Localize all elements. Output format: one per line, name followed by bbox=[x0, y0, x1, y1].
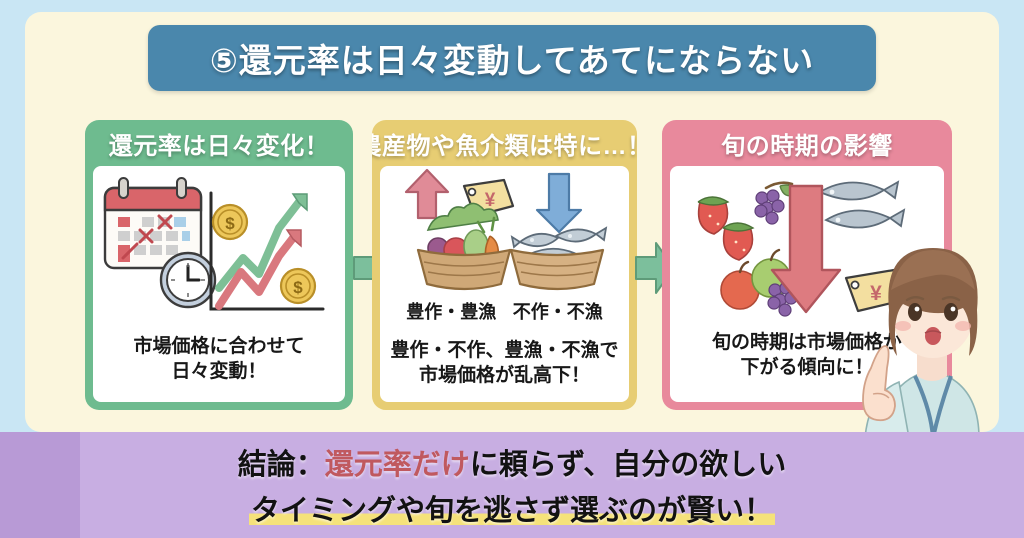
panel-2-text-line-1: 豊作・不作、豊漁・不漁で bbox=[380, 339, 629, 363]
panel-2-text-line-2: 市場価格が乱高下！ bbox=[380, 364, 629, 388]
down-arrow-blue-icon bbox=[537, 174, 581, 232]
panel-1-illustration: $ $ bbox=[93, 166, 345, 341]
infographic-stage: ⑤還元率は日々変動してあてにならない 還元率は日々変化！ bbox=[0, 0, 1024, 538]
panel-2-text: 豊作・不作、豊漁・不漁で 市場価格が乱高下！ bbox=[380, 339, 629, 388]
conclusion-suffix: に頼らず、自分の欲しい bbox=[470, 449, 786, 481]
conclusion-band-right bbox=[944, 432, 1024, 538]
calendar-chart-illustration: $ $ bbox=[93, 166, 345, 336]
panel-2-body: ¥ bbox=[380, 166, 629, 402]
up-arrow-pink-icon bbox=[406, 170, 448, 218]
panel-2-label-left: 豊作・豊漁 bbox=[406, 301, 496, 324]
panel-revenue-rate-daily-change: 還元率は日々変化！ bbox=[85, 120, 353, 410]
panel-1-heading: 還元率は日々変化！ bbox=[109, 126, 330, 161]
panel-2-illustration: ¥ bbox=[380, 166, 629, 311]
page-title: ⑤還元率は日々変動してあてにならない bbox=[210, 34, 814, 82]
conclusion-band-left bbox=[0, 432, 80, 538]
svg-text:$: $ bbox=[293, 278, 303, 297]
clock-icon bbox=[161, 253, 215, 307]
conclusion-banner: 結論：還元率だけに頼らず、自分の欲しい タイミングや旬を逃さず選ぶのが賢い！ bbox=[80, 432, 944, 538]
panel-2-label-right: 不作・不漁 bbox=[513, 301, 603, 324]
panel-produce-seafood: 農産物や魚介類は特に…！ ¥ bbox=[372, 120, 637, 410]
panel-2-heading: 農産物や魚介類は特に…！ bbox=[372, 126, 637, 161]
panel-1-text: 市場価格に合わせて 日々変動！ bbox=[93, 335, 345, 384]
panel-1-body: $ $ 市場価格に合わせて 日々変動！ bbox=[93, 166, 345, 402]
baskets-illustration: ¥ bbox=[380, 166, 629, 306]
title-banner: ⑤還元率は日々変動してあてにならない bbox=[148, 25, 876, 91]
panel-2-labels: 豊作・豊漁 不作・不漁 bbox=[380, 301, 629, 324]
svg-text:¥: ¥ bbox=[485, 190, 496, 211]
svg-text:$: $ bbox=[225, 214, 235, 233]
fish-basket-icon bbox=[511, 228, 606, 289]
panel-1-text-line-1: 市場価格に合わせて bbox=[93, 335, 345, 359]
strawberry-icon bbox=[698, 197, 753, 260]
conclusion-prefix: 結論： bbox=[238, 449, 325, 481]
panel-3-heading: 旬の時期の影響 bbox=[721, 126, 893, 161]
conclusion-line-2-text: タイミングや旬を逃さず選ぶのが賢い！ bbox=[249, 495, 775, 527]
panel-1-header: 還元率は日々変化！ bbox=[85, 120, 353, 166]
panel-2-header: 農産物や魚介類は特に…！ bbox=[372, 120, 637, 166]
conclusion-line-2: タイミングや旬を逃さず選ぶのが賢い！ bbox=[249, 487, 775, 529]
presenter-character bbox=[845, 238, 1024, 438]
conclusion-accent: 還元率だけ bbox=[325, 449, 470, 481]
panel-3-header: 旬の時期の影響 bbox=[662, 120, 952, 166]
panel-1-text-line-2: 日々変動！ bbox=[93, 360, 345, 384]
fish-icon bbox=[820, 182, 904, 228]
conclusion-line-1: 結論：還元率だけに頼らず、自分の欲しい bbox=[238, 441, 786, 483]
